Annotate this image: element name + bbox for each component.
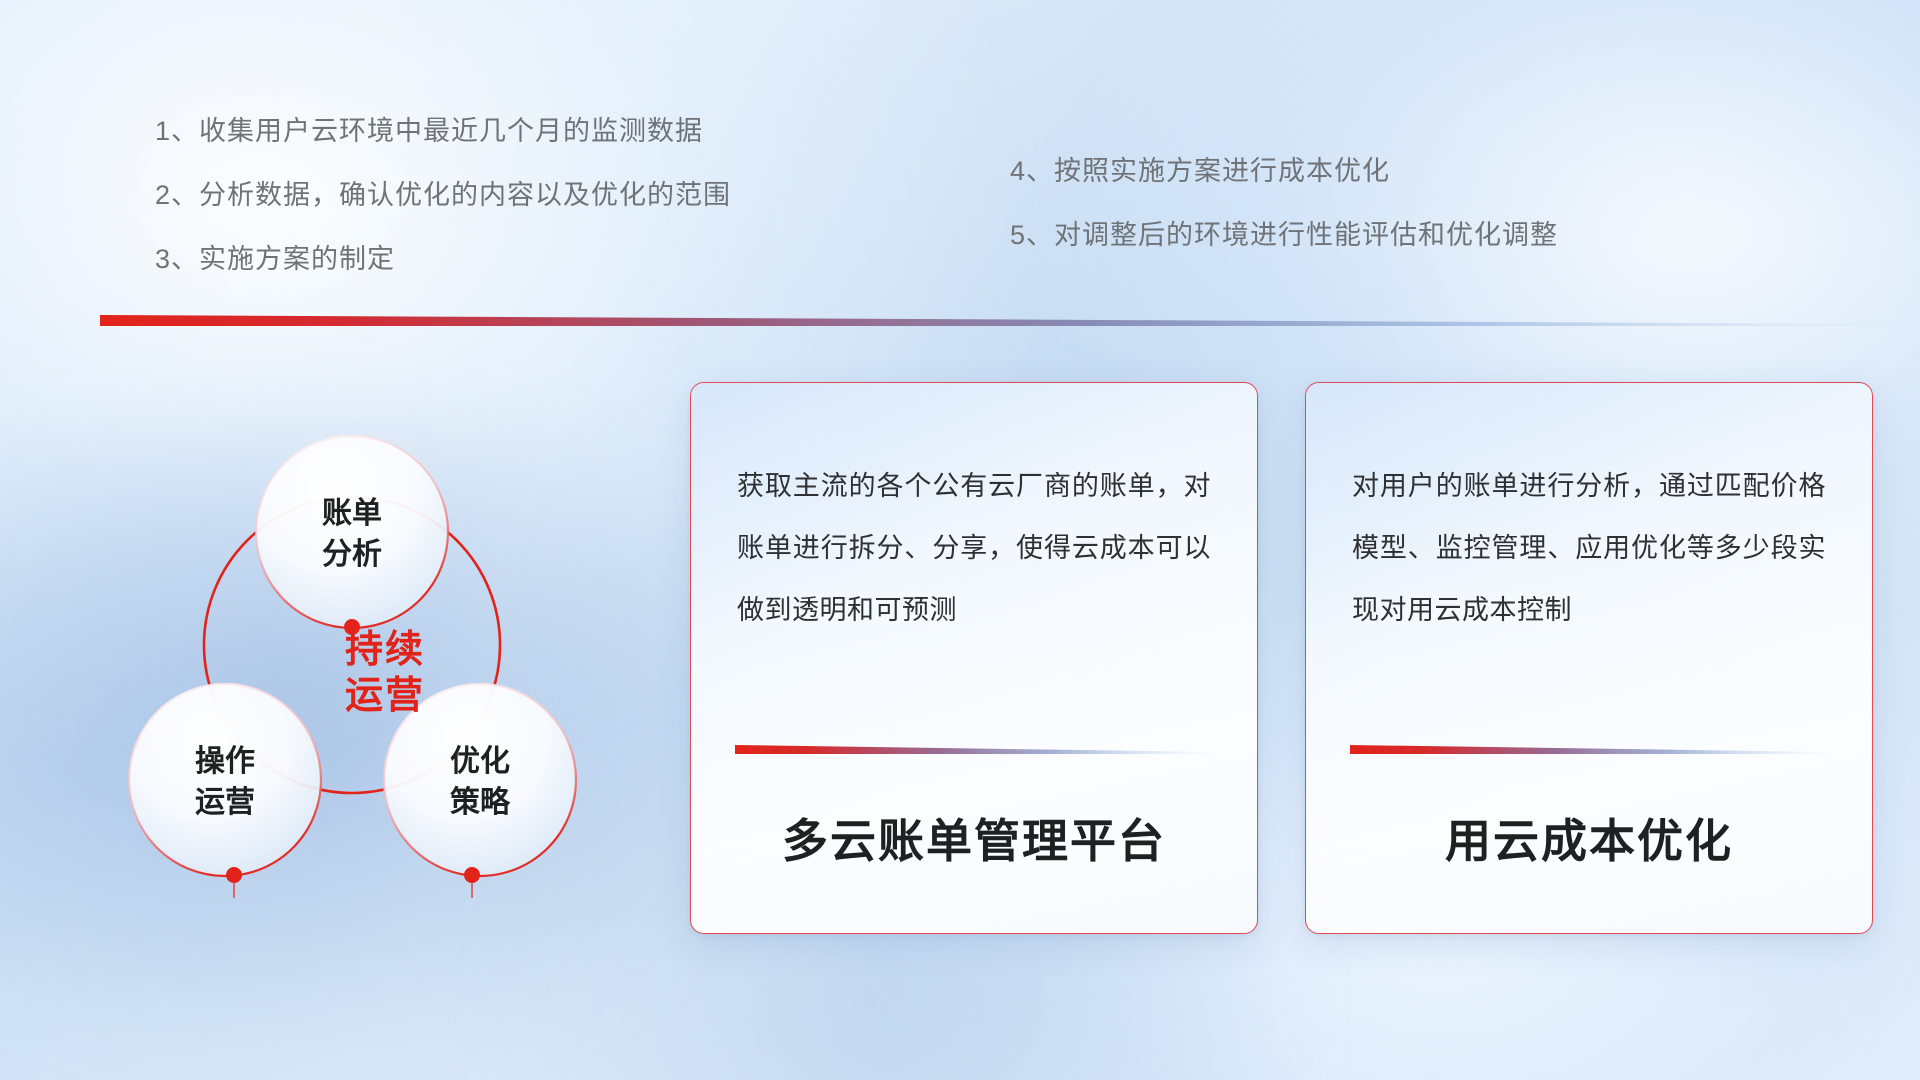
venn-node-label-operations-line1: 操作	[195, 745, 255, 778]
venn-center-label-line2: 运营	[345, 675, 425, 717]
node-dot-operations	[226, 867, 242, 883]
venn-node-label-billing-line1: 账单	[322, 497, 382, 530]
venn-node-label-billing-line2: 分析	[322, 538, 382, 571]
venn-node-label-strategy-line1: 优化	[450, 745, 510, 778]
venn-node-label-operations-line2: 运营	[195, 786, 255, 819]
section-divider	[100, 312, 1910, 326]
venn-node-operations: 操作 运营	[129, 684, 321, 898]
card-1-title: 多云账单管理平台	[691, 805, 1257, 871]
card-1-divider	[735, 743, 1219, 754]
card-2-divider	[1350, 743, 1834, 754]
step-item-5: 5、对调整后的环境进行性能评估和优化调整	[1010, 222, 1730, 249]
continuous-operations-diagram: 操作 运营 优化 策略 账单 分析 持续 运营	[95, 350, 655, 950]
card-cloud-cost-optimization[interactable]: 对用户的账单进行分析，通过匹配价格模型、监控管理、应用优化等多少段实现对用云成本…	[1305, 382, 1873, 934]
node-dot-optimization-strategy	[464, 867, 480, 883]
card-multi-cloud-billing[interactable]: 获取主流的各个公有云厂商的账单，对账单进行拆分、分享，使得云成本可以做到透明和可…	[690, 382, 1258, 934]
steps-right-column: 4、按照实施方案进行成本优化 5、对调整后的环境进行性能评估和优化调整	[1010, 158, 1730, 286]
step-item-4: 4、按照实施方案进行成本优化	[1010, 158, 1730, 185]
venn-center-label-line1: 持续	[345, 629, 425, 671]
venn-node-billing-analysis: 账单 分析	[256, 436, 448, 650]
slide-stage: 1、收集用户云环境中最近几个月的监测数据 2、分析数据，确认优化的内容以及优化的…	[0, 0, 1920, 1080]
card-2-title: 用云成本优化	[1306, 805, 1872, 871]
step-item-1: 1、收集用户云环境中最近几个月的监测数据	[155, 118, 855, 145]
card-2-body: 对用户的账单进行分析，通过匹配价格模型、监控管理、应用优化等多少段实现对用云成本…	[1306, 383, 1872, 641]
steps-left-column: 1、收集用户云环境中最近几个月的监测数据 2、分析数据，确认优化的内容以及优化的…	[155, 118, 855, 310]
step-item-2: 2、分析数据，确认优化的内容以及优化的范围	[155, 182, 855, 209]
card-1-body: 获取主流的各个公有云厂商的账单，对账单进行拆分、分享，使得云成本可以做到透明和可…	[691, 383, 1257, 641]
venn-node-label-strategy-line2: 策略	[450, 785, 511, 819]
step-item-3: 3、实施方案的制定	[155, 246, 855, 273]
